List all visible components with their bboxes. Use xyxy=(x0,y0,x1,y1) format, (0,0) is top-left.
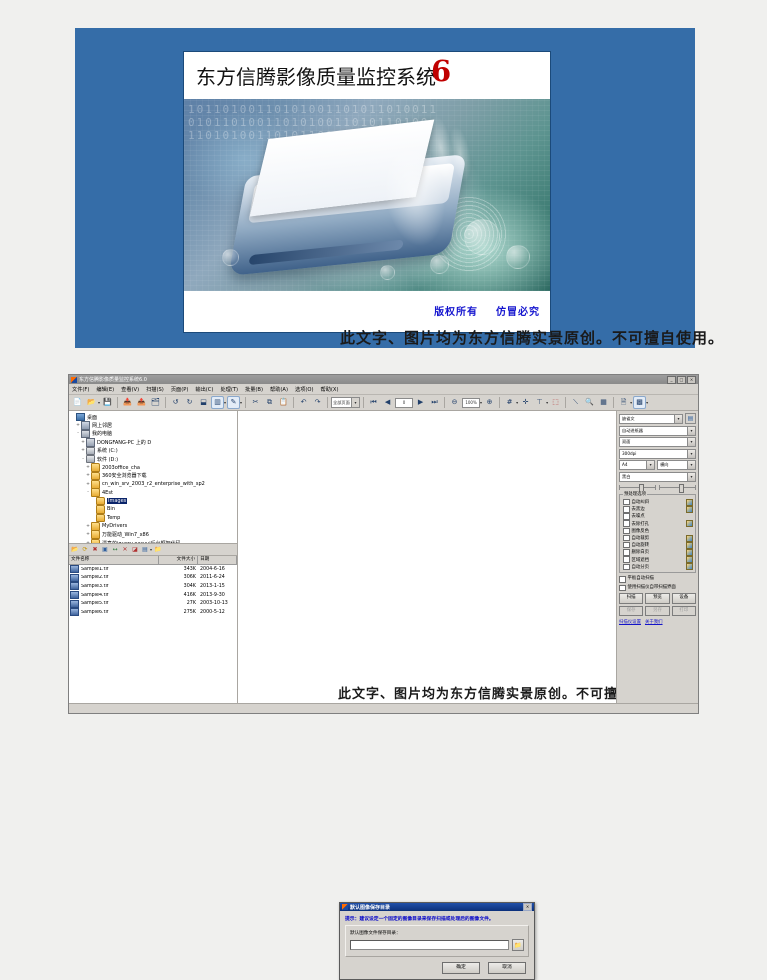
file-list-row[interactable]: Sample3.tif304K2013-1-15 xyxy=(69,582,237,591)
checkbox-icon[interactable] xyxy=(623,542,630,549)
paper-row: A4 ▾ 横向 ▾ xyxy=(619,460,696,470)
open-folder-icon[interactable]: 📂 xyxy=(85,396,98,409)
ruler-icon[interactable]: ⊤ xyxy=(533,396,546,409)
scan-settings-panel: 缺省文 ▾ ▤ 自动进纸器 ▾ 双面 ▾ xyxy=(616,411,698,711)
folder-icon xyxy=(91,522,100,531)
checkbox-icon[interactable] xyxy=(623,528,630,535)
resolution-row: 300dpi ▾ xyxy=(619,449,696,459)
preprocess-option-label: 自动纠斜 xyxy=(632,499,650,505)
menu-item-process[interactable]: 处理(T) xyxy=(220,386,238,393)
extra-options: 平板自动扫描使用扫描仪自带扫描界面 xyxy=(619,576,696,591)
preprocess-option[interactable]: 删除白页 xyxy=(623,549,693,556)
refresh-icon[interactable]: ⟳ xyxy=(81,546,89,554)
menu-item-edit[interactable]: 编辑(E) xyxy=(96,386,114,393)
delete-all-icon[interactable]: ✖ xyxy=(91,546,99,554)
file-name: Sample2.tif xyxy=(81,575,161,580)
folder-icon xyxy=(91,488,100,497)
option-settings-icon[interactable] xyxy=(686,563,693,570)
file-name: Sample5.tif xyxy=(81,601,161,606)
new-folder-icon[interactable]: 📁 xyxy=(154,546,162,554)
tif-file-icon xyxy=(70,565,79,573)
chevron-down-icon[interactable]: ▾ xyxy=(646,461,654,469)
checkbox-icon[interactable] xyxy=(623,556,630,563)
tree-item[interactable]: +网上邻居 xyxy=(70,421,237,429)
chevron-down-icon[interactable]: ▾ xyxy=(687,438,695,446)
color-mode-select[interactable]: 黑白 ▾ xyxy=(619,472,696,482)
tree-item-label: Bin xyxy=(107,506,115,512)
menu-item-options[interactable]: 选项(O) xyxy=(295,386,314,393)
file-list-header: 文件名称 文件大小 日期 xyxy=(69,556,237,565)
scan-device-icon[interactable]: ▦ xyxy=(597,396,610,409)
tree-item-label: DONGFANG-PC 上的 D xyxy=(97,439,151,446)
drive-icon xyxy=(86,447,95,456)
tree-item-label: 4Est xyxy=(102,490,113,496)
preprocess-option-label: 自动旋转 xyxy=(632,542,650,548)
file-date: 2000-5-12 xyxy=(199,610,237,615)
last-page-icon[interactable]: ⏭ xyxy=(428,396,441,409)
zoom-in-icon[interactable]: ⊕ xyxy=(483,396,496,409)
tree-item[interactable]: -我的电脑 xyxy=(70,430,237,438)
window-title: 东方信腾影像质量监控系统6.0 xyxy=(79,376,667,383)
option-settings-icon[interactable] xyxy=(686,556,693,563)
tool-bar: 📄 📂 ▾ 💾 📥 📤 🗂 ↺ ↻ ⬓ ▥ ▾ ✎ ▾ ✂ ⧉ 📋 ↶ ↷ xyxy=(69,395,698,411)
image-adjust-sliders xyxy=(619,484,696,491)
splash-title: 东方信腾影像质量监控系统 xyxy=(196,61,436,90)
file-size: 304K xyxy=(161,584,199,589)
preprocess-option[interactable]: 自动纠斜 xyxy=(623,499,693,506)
option-settings-icon[interactable] xyxy=(686,549,693,556)
paper-size-value: A4 xyxy=(622,462,628,467)
zoom-level-input[interactable]: 100% xyxy=(462,398,480,408)
column-header-name[interactable]: 文件名称 xyxy=(69,556,159,564)
menu-item-output[interactable]: 输出(C) xyxy=(195,386,213,393)
toolbar-separator xyxy=(444,397,445,408)
preprocess-option-label: 区域遮挡 xyxy=(632,557,650,563)
footer-links: 扫描仪设置 关于我们 xyxy=(619,619,696,625)
brightness-slider[interactable] xyxy=(619,484,656,491)
tree-item[interactable]: +DONGFANG-PC 上的 D xyxy=(70,438,237,446)
preprocess-option[interactable]: 自动分页 xyxy=(623,563,693,570)
maximize-button[interactable]: □ xyxy=(677,376,686,384)
deskew-icon[interactable]: ⬓ xyxy=(197,396,210,409)
import-icon[interactable]: 📥 xyxy=(121,396,134,409)
checkbox-icon[interactable] xyxy=(623,499,630,506)
menu-item-file[interactable]: 文件(F) xyxy=(72,386,89,393)
splash-panel: 东方信腾影像质量监控系统 6 1011010011010100110101101… xyxy=(183,51,551,333)
grid-icon[interactable]: # xyxy=(503,396,516,409)
batch-icon[interactable]: 🗂 xyxy=(149,396,162,409)
file-list-toolbar: 📂 ⟳ ✖ ▣ ↔ ✕ ◪ ▤ ▾ 📁 xyxy=(69,544,237,556)
tree-item[interactable]: Temp xyxy=(70,514,237,522)
computer-icon xyxy=(86,438,95,447)
checkbox-icon[interactable] xyxy=(623,506,630,513)
file-date: 2003-10-13 xyxy=(199,601,237,606)
toolbar-separator xyxy=(565,397,566,408)
thumbnail-view-icon[interactable]: ▩ xyxy=(633,396,646,409)
ruler-dropdown-icon[interactable]: ▾ xyxy=(546,400,548,405)
drive-icon xyxy=(86,455,95,464)
copy-icon[interactable]: ⧉ xyxy=(263,396,276,409)
new-document-icon[interactable]: 📄 xyxy=(71,396,84,409)
action-buttons-row-1: 扫描 预览 设备 xyxy=(619,593,696,604)
folder-icon xyxy=(91,472,100,481)
open-folder-icon[interactable]: 📂 xyxy=(71,546,79,554)
about-us-link[interactable]: 关于我们 xyxy=(645,619,663,625)
preprocess-option[interactable]: 图像反色 xyxy=(623,527,693,534)
network-icon xyxy=(81,421,90,430)
orientation-select[interactable]: 横向 ▾ xyxy=(657,460,696,470)
preview-button[interactable]: 预览 xyxy=(645,593,669,604)
export-icon[interactable]: 📤 xyxy=(135,396,148,409)
toolbar-separator xyxy=(613,397,614,408)
view-dropdown-icon[interactable]: ▾ xyxy=(224,400,226,405)
window-controls: _ □ × xyxy=(667,376,696,384)
preprocess-option-label: 去除打孔 xyxy=(632,521,650,527)
folder-browse-icon[interactable]: 📁 xyxy=(512,939,524,951)
file-name: Sample1.tif xyxy=(81,567,161,572)
thumbnail-dropdown-icon[interactable]: ▾ xyxy=(646,400,648,405)
menu-item-batch[interactable]: 批量(B) xyxy=(245,386,263,393)
image-viewer[interactable]: 此文字、图片均为东方信腾实景原创。不可擅自使用。 xyxy=(238,411,616,711)
chevron-down-icon[interactable]: ▾ xyxy=(687,473,695,481)
orientation-value: 横向 xyxy=(660,462,668,467)
paper-size-select[interactable]: A4 ▾ xyxy=(619,460,655,470)
preprocess-option[interactable]: 自动裁剪 xyxy=(623,534,693,541)
profile-value: 缺省文 xyxy=(622,416,635,421)
option-settings-icon[interactable] xyxy=(686,542,693,549)
tree-item[interactable]: +2003office_cha xyxy=(70,463,237,471)
extra-option-label: 使用扫描仪自带扫描界面 xyxy=(628,585,676,590)
save-as-button[interactable]: 另存 xyxy=(645,606,669,617)
resolution-select[interactable]: 300dpi ▾ xyxy=(619,449,696,459)
magnifier-icon[interactable]: 🔍 xyxy=(583,396,596,409)
file-name: Sample6.tif xyxy=(81,610,161,615)
dialog-field-label: 默认图像文件保存目录： xyxy=(350,930,524,936)
save-icon[interactable]: 💾 xyxy=(101,396,114,409)
checkbox-icon[interactable] xyxy=(623,535,630,542)
watermark-splash: 此文字、图片均为东方信腾实景原创。不可擅自使用。 xyxy=(340,327,724,348)
selection-rect-icon[interactable]: ⬚ xyxy=(549,396,562,409)
save-icon[interactable]: ▤ xyxy=(141,546,149,554)
tree-item-label: 软件 (D:) xyxy=(97,456,118,463)
rotate-right-icon[interactable]: ↻ xyxy=(183,396,196,409)
watermark-app: 此文字、图片均为东方信腾实景原创。不可擅自使用。 xyxy=(338,683,616,702)
menu-bar: 文件(F) 编辑(E) 查看(V) 扫描(S) 页面(P) 输出(C) 处理(T… xyxy=(69,384,698,395)
save-profile-icon[interactable]: ▤ xyxy=(685,413,696,424)
chevron-down-icon[interactable]: ▾ xyxy=(687,450,695,458)
preprocess-group: 预处理选项 自动纠斜去黑边去噪点去除打孔图像反色自动裁剪自动旋转删除白页区域遮挡… xyxy=(619,494,696,574)
tree-item[interactable]: Images xyxy=(70,497,237,505)
menu-item-assist[interactable]: 帮助(A) xyxy=(270,386,288,393)
dialog-tip-text: 提示：建议设定一个固定的图像目录来保存扫描或处理后的图像文件。 xyxy=(340,911,534,925)
app-logo-icon xyxy=(71,377,77,383)
checkbox-icon[interactable] xyxy=(619,585,626,592)
file-date: 2013-9-30 xyxy=(199,593,237,598)
tif-file-icon xyxy=(70,600,79,608)
preprocess-option[interactable]: 去噪点 xyxy=(623,513,693,520)
page-mode-select[interactable]: 全部页面 ▾ xyxy=(331,397,360,408)
delete-icon[interactable]: ✕ xyxy=(121,546,129,554)
preprocess-option[interactable]: 区域遮挡 xyxy=(623,556,693,563)
tree-item-label: 桌面 xyxy=(87,414,97,421)
dialog-buttons: 确定 取消 xyxy=(340,957,534,974)
folder-icon xyxy=(96,497,105,506)
file-size: 27K xyxy=(161,601,199,606)
folder-icon xyxy=(91,480,100,489)
chevron-down-icon[interactable]: ▾ xyxy=(687,427,695,435)
preprocess-group-title: 预处理选项 xyxy=(623,491,647,497)
option-settings-icon[interactable] xyxy=(686,535,693,542)
tree-item-label: 360安全浏览器下载 xyxy=(102,472,147,479)
prev-page-icon[interactable]: ◀ xyxy=(381,396,394,409)
folder-icon xyxy=(96,514,105,523)
annotate-dropdown-icon[interactable]: ▾ xyxy=(240,400,242,405)
close-button[interactable]: × xyxy=(687,376,696,384)
action-buttons-row-2: 保存 另存 打印 xyxy=(619,606,696,617)
splash-artwork: 10110100110101001101011010011 0101101001… xyxy=(184,99,550,291)
duplex-value: 双面 xyxy=(622,439,630,444)
save-dropdown-icon[interactable]: ▾ xyxy=(150,547,152,552)
folder-icon xyxy=(96,505,105,514)
file-date: 2011-6-24 xyxy=(199,575,237,580)
tif-file-icon xyxy=(70,591,79,599)
tree-item-label: Temp xyxy=(107,515,120,521)
paper-source-select[interactable]: 自动进纸器 ▾ xyxy=(619,426,696,436)
file-size: 306K xyxy=(161,575,199,580)
splash-copyright: 版权所有 仿冒必究 xyxy=(434,303,540,318)
rename-icon[interactable]: ↔ xyxy=(111,546,119,554)
file-size: 343K xyxy=(161,567,199,572)
scan-button[interactable]: 扫描 xyxy=(619,593,643,604)
file-size: 416K xyxy=(161,593,199,598)
save-folder-input[interactable] xyxy=(350,940,509,950)
screenshot-root: 东方信腾影像质量监控系统 6 1011010011010100110101101… xyxy=(0,0,767,767)
checkbox-icon[interactable] xyxy=(623,549,630,556)
dialog-title-bar[interactable]: 默认图像保存目录 × xyxy=(340,903,534,911)
tif-file-icon xyxy=(70,582,79,590)
select-icon[interactable]: ◪ xyxy=(131,546,139,554)
next-page-icon[interactable]: ▶ xyxy=(414,396,427,409)
scanner-settings-link[interactable]: 扫描仪设置 xyxy=(619,619,641,625)
preprocess-option[interactable]: 去除打孔 xyxy=(623,520,693,527)
file-list[interactable]: Sample1.tif343K2004-6-16Sample2.tif306K2… xyxy=(69,565,237,711)
copyright-left: 版权所有 xyxy=(434,307,478,318)
preprocess-option-label: 图像反色 xyxy=(632,528,650,534)
tree-item-label: Images xyxy=(107,498,127,504)
profile-row: 缺省文 ▾ ▤ xyxy=(619,413,696,424)
tree-item-label: 网上邻居 xyxy=(92,422,112,429)
tree-item[interactable]: +万能驱动_Win7_x86 xyxy=(70,530,237,538)
file-size: 275K xyxy=(161,610,199,615)
dialog-field-group: 默认图像文件保存目录： 📁 xyxy=(345,925,529,957)
extra-option[interactable]: 使用扫描仪自带扫描界面 xyxy=(619,585,696,592)
extra-option-label: 平板自动扫描 xyxy=(628,576,654,581)
zoom-out-icon[interactable]: ⊖ xyxy=(448,396,461,409)
crosshair-icon[interactable]: ✛ xyxy=(519,396,532,409)
contrast-slider[interactable] xyxy=(659,484,696,491)
splash-version: 6 xyxy=(431,54,451,88)
folder-icon xyxy=(91,530,100,539)
tree-item-label: 漂亮的jquery easyui后台框架代码 xyxy=(102,540,181,544)
file-date: 2013-1-15 xyxy=(199,584,237,589)
grid-dropdown-icon[interactable]: ▾ xyxy=(516,400,518,405)
source-row: 自动进纸器 ▾ xyxy=(619,426,696,436)
computer-icon xyxy=(81,430,90,439)
first-page-icon[interactable]: ⏮ xyxy=(367,396,380,409)
checkbox-icon[interactable] xyxy=(619,576,626,583)
pointer-icon[interactable]: ⟍ xyxy=(569,396,582,409)
tree-item[interactable]: 桌面 xyxy=(70,413,237,421)
file-list-row[interactable]: Sample6.tif275K2000-5-12 xyxy=(69,608,237,617)
redo-icon[interactable]: ↷ xyxy=(311,396,324,409)
tree-item-label: 万能驱动_Win7_x86 xyxy=(102,531,149,538)
app-logo-icon xyxy=(342,904,348,910)
rotate-left-icon[interactable]: ↺ xyxy=(169,396,182,409)
resolution-value: 300dpi xyxy=(622,451,636,456)
preprocess-option-label: 自动分页 xyxy=(632,564,650,570)
minimize-button[interactable]: _ xyxy=(667,376,676,384)
annotate-icon[interactable]: ✎ xyxy=(227,396,240,409)
color-mode-row: 黑白 ▾ xyxy=(619,472,696,482)
page-mode-value: 全部页面 xyxy=(333,400,350,405)
tree-item-label: 系统 (C:) xyxy=(97,447,118,454)
tree-item-label: cn_win_srv_2003_r2_enterprise_with_sp2 xyxy=(102,481,205,487)
file-date: 2004-6-16 xyxy=(199,567,237,572)
menu-item-view[interactable]: 查看(V) xyxy=(121,386,139,393)
properties-icon[interactable]: ▣ xyxy=(101,546,109,554)
tif-file-icon xyxy=(70,574,79,582)
option-settings-icon[interactable] xyxy=(686,506,693,513)
preprocess-option[interactable]: 自动旋转 xyxy=(623,542,693,549)
chevron-down-icon[interactable]: ▾ xyxy=(674,415,682,423)
paper-source-value: 自动进纸器 xyxy=(622,428,643,433)
option-settings-icon[interactable] xyxy=(686,520,693,527)
checkbox-icon[interactable] xyxy=(623,513,630,520)
dialog-input-row: 📁 xyxy=(350,939,524,951)
cancel-button[interactable]: 取消 xyxy=(488,962,526,974)
undo-icon[interactable]: ↶ xyxy=(297,396,310,409)
status-bar xyxy=(69,703,698,713)
bubble-decorations xyxy=(184,99,550,291)
print-button[interactable]: 打印 xyxy=(672,606,696,617)
zoom-dropdown-icon[interactable]: ▾ xyxy=(480,400,482,405)
desktop-icon xyxy=(76,413,85,422)
color-mode-value: 黑白 xyxy=(622,474,630,479)
file-list-row[interactable]: Sample5.tif27K2003-10-13 xyxy=(69,599,237,608)
file-list-row[interactable]: Sample2.tif306K2011-6-24 xyxy=(69,574,237,583)
folder-icon xyxy=(91,539,100,544)
device-button[interactable]: 设备 xyxy=(672,593,696,604)
page-setup-icon[interactable]: 🗎 xyxy=(617,396,630,409)
toolbar-separator xyxy=(117,397,118,408)
left-panel: 桌面+网上邻居-我的电脑+DONGFANG-PC 上的 D+系统 (C:)-软件… xyxy=(69,411,238,711)
preprocess-option-label: 去噪点 xyxy=(632,513,645,519)
option-settings-icon[interactable] xyxy=(686,499,693,506)
extra-option[interactable]: 平板自动扫描 xyxy=(619,576,696,583)
toolbar-separator xyxy=(499,397,500,408)
save-button[interactable]: 保存 xyxy=(619,606,643,617)
file-name: Sample4.tif xyxy=(81,593,161,598)
preprocess-option-label: 去黑边 xyxy=(632,506,645,512)
file-list-row[interactable]: Sample1.tif343K2004-6-16 xyxy=(69,565,237,574)
copyright-right: 仿冒必究 xyxy=(496,307,540,318)
tree-item[interactable]: +MyDrivers xyxy=(70,522,237,530)
checkbox-icon[interactable] xyxy=(623,564,630,571)
ok-button[interactable]: 确定 xyxy=(442,962,480,974)
tree-item[interactable]: +漂亮的jquery easyui后台框架代码 xyxy=(70,539,237,544)
folder-tree[interactable]: 桌面+网上邻居-我的电脑+DONGFANG-PC 上的 D+系统 (C:)-软件… xyxy=(69,411,237,544)
tree-item-label: 我的电脑 xyxy=(92,430,112,437)
tree-item[interactable]: -软件 (D:) xyxy=(70,455,237,463)
file-name: Sample3.tif xyxy=(81,584,161,589)
toolbar-separator xyxy=(165,397,166,408)
page-number-input[interactable]: 0 xyxy=(395,398,413,408)
tree-item[interactable]: +系统 (C:) xyxy=(70,447,237,455)
open-dropdown-icon[interactable]: ▾ xyxy=(98,400,100,405)
preprocess-option-label: 自动裁剪 xyxy=(632,535,650,541)
preprocess-option[interactable]: 去黑边 xyxy=(623,506,693,513)
tree-item[interactable]: Bin xyxy=(70,505,237,513)
menu-item-page[interactable]: 页面(P) xyxy=(171,386,189,393)
tree-item[interactable]: +360安全浏览器下载 xyxy=(70,472,237,480)
tree-item-label: MyDrivers xyxy=(102,523,127,529)
menu-item-scan[interactable]: 扫描(S) xyxy=(146,386,164,393)
profile-select[interactable]: 缺省文 ▾ xyxy=(619,414,683,424)
column-header-size[interactable]: 文件大小 xyxy=(159,556,198,564)
splash-screen: 东方信腾影像质量监控系统 6 1011010011010100110101101… xyxy=(75,28,695,348)
toolbar-separator xyxy=(327,397,328,408)
duplex-select[interactable]: 双面 ▾ xyxy=(619,437,696,447)
tree-item[interactable]: +cn_win_srv_2003_r2_enterprise_with_sp2 xyxy=(70,480,237,488)
tif-file-icon xyxy=(70,608,79,616)
default-save-folder-dialog: 默认图像保存目录 × 提示：建议设定一个固定的图像目录来保存扫描或处理后的图像文… xyxy=(339,902,535,980)
toolbar-separator xyxy=(293,397,294,408)
toolbar-separator xyxy=(363,397,364,408)
application-window: 东方信腾影像质量监控系统6.0 _ □ × 文件(F) 编辑(E) 查看(V) … xyxy=(68,374,699,714)
toolbar-separator xyxy=(245,397,246,408)
menu-item-help[interactable]: 帮助(X) xyxy=(321,386,339,393)
view-layout-icon[interactable]: ▥ xyxy=(211,396,224,409)
file-list-row[interactable]: Sample4.tif416K2013-9-30 xyxy=(69,591,237,600)
window-body: 桌面+网上邻居-我的电脑+DONGFANG-PC 上的 D+系统 (C:)-软件… xyxy=(69,411,698,711)
cut-icon[interactable]: ✂ xyxy=(249,396,262,409)
duplex-row: 双面 ▾ xyxy=(619,437,696,447)
tree-item[interactable]: -4Est xyxy=(70,489,237,497)
chevron-down-icon[interactable]: ▾ xyxy=(687,461,695,469)
dialog-title: 默认图像保存目录 xyxy=(350,904,523,911)
column-header-date[interactable]: 日期 xyxy=(198,556,237,564)
chevron-down-icon[interactable]: ▾ xyxy=(351,398,359,407)
checkbox-icon[interactable] xyxy=(623,520,630,527)
contrast-slider-handle[interactable] xyxy=(679,484,684,493)
window-title-bar[interactable]: 东方信腾影像质量监控系统6.0 _ □ × xyxy=(69,375,698,384)
preprocess-option-label: 删除白页 xyxy=(632,549,650,555)
tree-item-label: 2003office_cha xyxy=(102,465,140,471)
dialog-close-icon[interactable]: × xyxy=(523,903,532,911)
folder-icon xyxy=(91,463,100,472)
paste-icon[interactable]: 📋 xyxy=(277,396,290,409)
page-setup-dropdown-icon[interactable]: ▾ xyxy=(630,400,632,405)
